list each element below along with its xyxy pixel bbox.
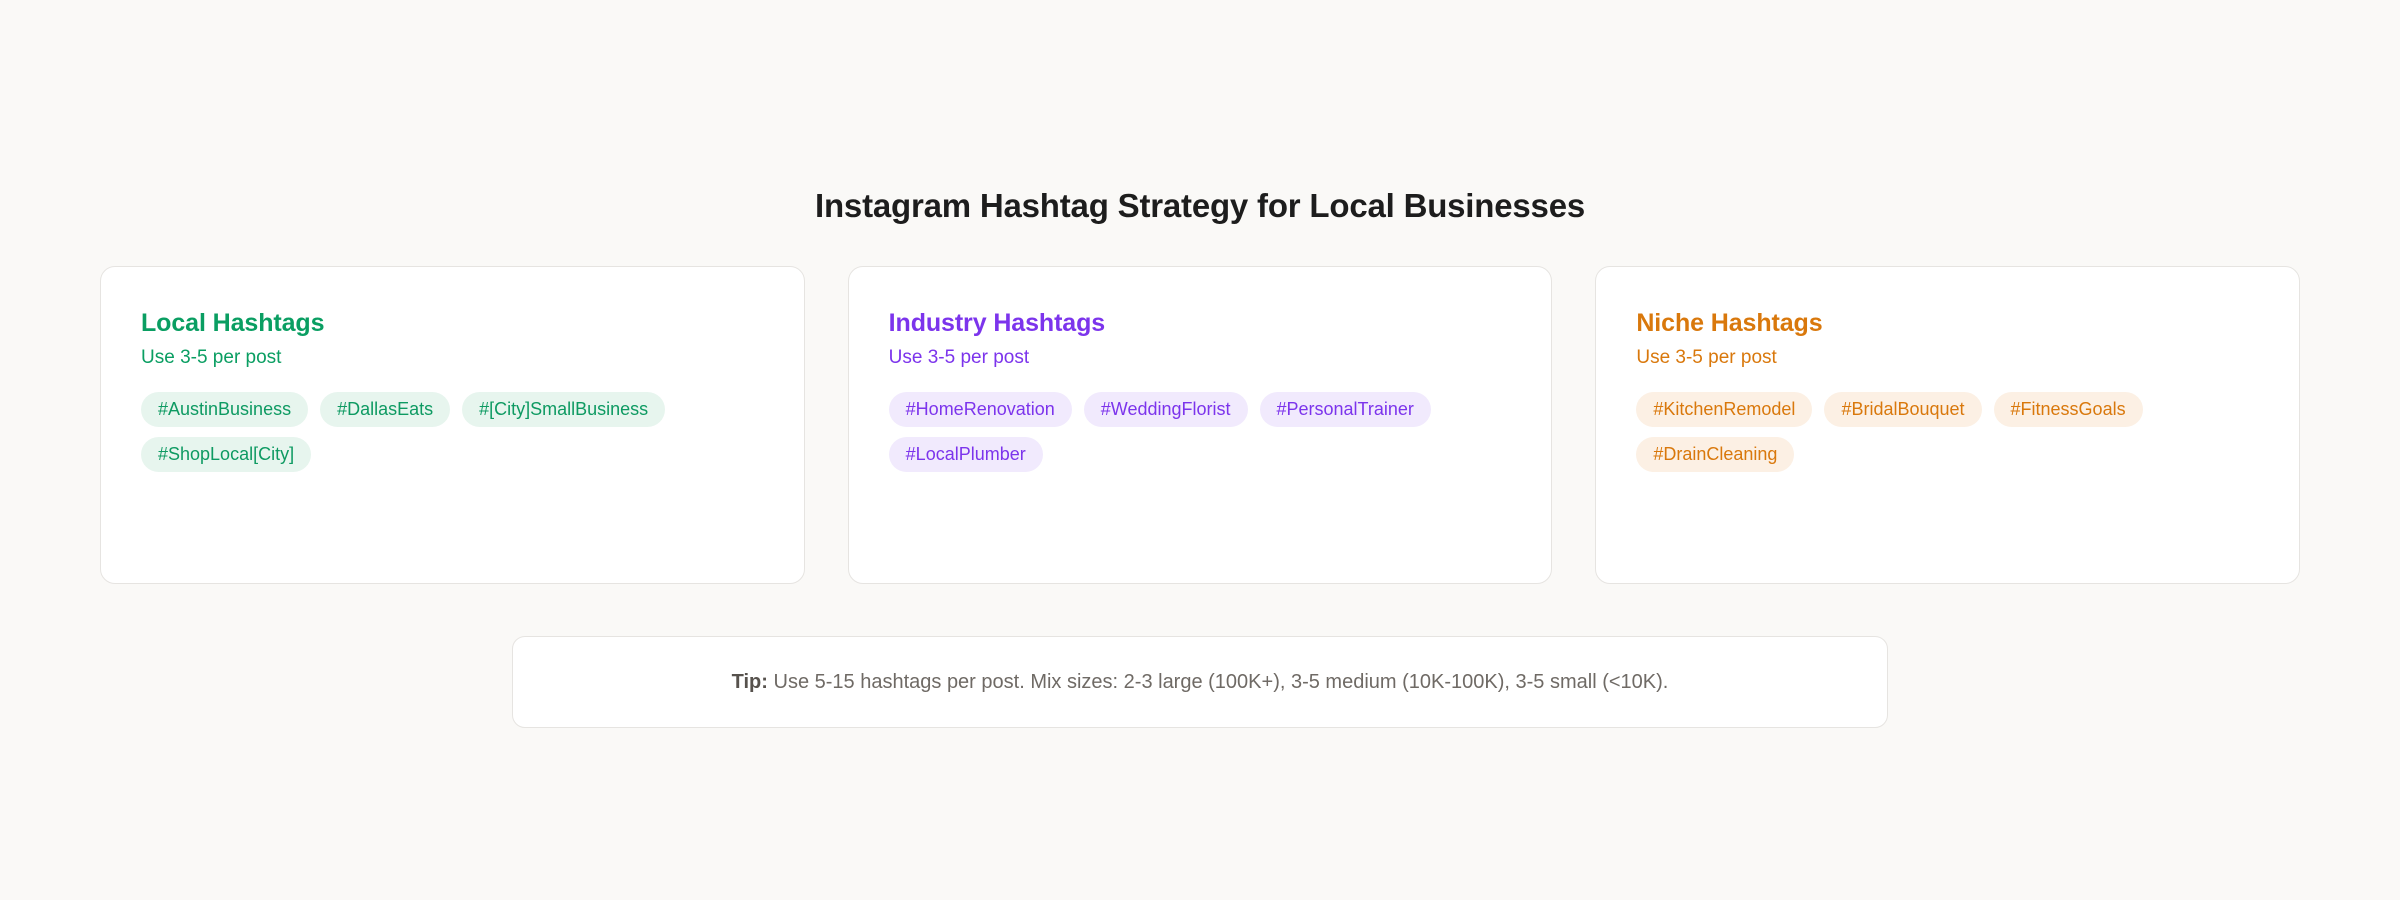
hashtag-pill[interactable]: #AustinBusiness	[141, 392, 308, 427]
hashtag-card-local: Local Hashtags Use 3-5 per post #AustinB…	[100, 266, 805, 584]
tip-banner: Tip: Use 5-15 hashtags per post. Mix siz…	[512, 636, 1888, 728]
card-title-niche: Niche Hashtags	[1636, 309, 2259, 338]
hashtag-pill[interactable]: #WeddingFlorist	[1084, 392, 1248, 427]
hashtag-pill[interactable]: #ShopLocal[City]	[141, 437, 311, 472]
hashtag-pill[interactable]: #PersonalTrainer	[1260, 392, 1431, 427]
hashtag-category-cards: Local Hashtags Use 3-5 per post #AustinB…	[100, 266, 2300, 584]
hashtag-pill[interactable]: #LocalPlumber	[889, 437, 1043, 472]
hashtag-strategy-page: Instagram Hashtag Strategy for Local Bus…	[0, 0, 2400, 900]
hashtag-pill[interactable]: #[City]SmallBusiness	[462, 392, 665, 427]
tip-label: Tip:	[732, 671, 768, 693]
card-subtitle-industry: Use 3-5 per post	[889, 347, 1512, 370]
hashtag-card-niche: Niche Hashtags Use 3-5 per post #Kitchen…	[1595, 266, 2300, 584]
hashtag-pill[interactable]: #KitchenRemodel	[1636, 392, 1812, 427]
hashtag-card-industry: Industry Hashtags Use 3-5 per post #Home…	[848, 266, 1553, 584]
hashtag-pill[interactable]: #BridalBouquet	[1824, 392, 1981, 427]
tip-text: Tip: Use 5-15 hashtags per post. Mix siz…	[732, 669, 1669, 695]
page-title: Instagram Hashtag Strategy for Local Bus…	[0, 186, 2400, 226]
hashtag-pill[interactable]: #HomeRenovation	[889, 392, 1072, 427]
card-title-local: Local Hashtags	[141, 309, 764, 338]
tag-list-industry: #HomeRenovation #WeddingFlorist #Persona…	[889, 392, 1512, 472]
hashtag-pill[interactable]: #DallasEats	[320, 392, 450, 427]
card-subtitle-local: Use 3-5 per post	[141, 347, 764, 370]
card-subtitle-niche: Use 3-5 per post	[1636, 347, 2259, 370]
tag-list-local: #AustinBusiness #DallasEats #[City]Small…	[141, 392, 764, 472]
tip-body: Use 5-15 hashtags per post. Mix sizes: 2…	[774, 671, 1669, 693]
tag-list-niche: #KitchenRemodel #BridalBouquet #FitnessG…	[1636, 392, 2259, 472]
hashtag-pill[interactable]: #FitnessGoals	[1994, 392, 2143, 427]
card-title-industry: Industry Hashtags	[889, 309, 1512, 338]
hashtag-pill[interactable]: #DrainCleaning	[1636, 437, 1794, 472]
